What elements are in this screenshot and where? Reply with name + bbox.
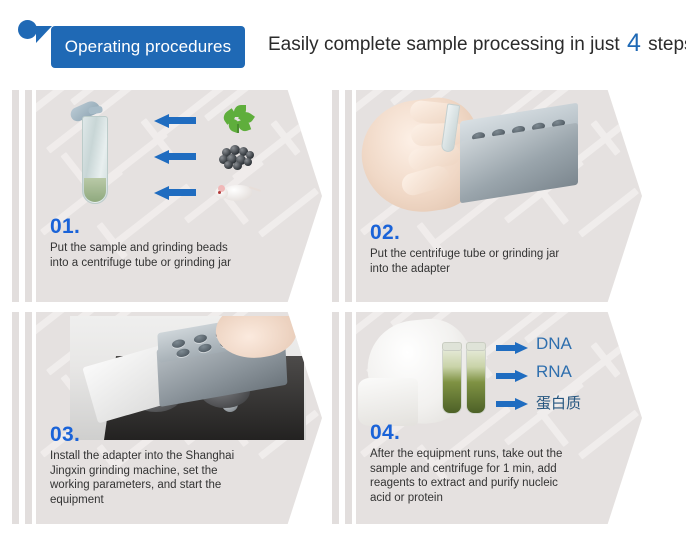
steps-grid: 01. Put the sample and grinding beads in…	[0, 86, 686, 538]
step-text: 02. Put the centrifuge tube or grinding …	[370, 222, 620, 276]
step-illustration-adapter-loading	[356, 90, 642, 218]
card-body: DNA RNA 蛋白质	[356, 312, 642, 524]
arrow-left-icon	[154, 186, 196, 198]
step-text: 01. Put the sample and grinding beads in…	[50, 216, 300, 270]
step-illustration-tube-and-samples	[36, 90, 322, 218]
card-accent-bar	[345, 90, 352, 302]
card-accent-bar	[345, 312, 352, 524]
card-accent-bar	[25, 312, 32, 524]
step-text: 03. Install the adapter into the Shangha…	[50, 424, 298, 507]
step-number: 02.	[370, 222, 620, 244]
tube-sample-fill	[84, 178, 106, 202]
card-accent-bar	[12, 90, 19, 302]
step-number: 04.	[370, 422, 618, 444]
operating-procedures-badge: Operating procedures	[18, 22, 258, 68]
sample-arrow-row-leaf	[154, 106, 306, 134]
step-card-04: DNA RNA 蛋白质	[330, 312, 650, 524]
output-label-rna: RNA	[536, 362, 572, 382]
page-title: Easily complete sample processing in jus…	[268, 30, 686, 58]
glove-cuff	[358, 378, 418, 426]
output-row-protein: 蛋白质	[496, 392, 642, 414]
step-description: Put the centrifuge tube or grinding jar …	[370, 247, 620, 276]
page-title-prefix: Easily complete sample processing in jus…	[268, 34, 620, 55]
arrow-right-icon	[496, 342, 528, 353]
step-card-03: 03. Install the adapter into the Shangha…	[10, 312, 330, 524]
operating-procedures-infographic: Operating procedures Easily complete sam…	[0, 0, 686, 538]
card-accent-bar	[25, 90, 32, 302]
step-text: 04. After the equipment runs, take out t…	[370, 422, 618, 505]
arrow-left-icon	[154, 150, 196, 162]
step-description: Put the sample and grinding beads into a…	[50, 241, 300, 270]
output-row-rna: RNA	[496, 364, 642, 386]
arrow-left-icon	[154, 114, 196, 126]
card-accent-bar	[332, 90, 339, 302]
page-title-step-count: 4	[625, 29, 643, 57]
step-description: After the equipment runs, take out the s…	[370, 447, 618, 505]
tube-cap-icon	[466, 342, 486, 351]
grinding-machine-icon	[70, 316, 306, 440]
badge-tail-icon	[36, 26, 52, 43]
step-card-02: 02. Put the centrifuge tube or grinding …	[330, 90, 650, 302]
sample-tube-icon	[466, 348, 486, 414]
arrow-right-icon	[496, 398, 528, 409]
arrow-right-icon	[496, 370, 528, 381]
tube-body-icon	[82, 116, 108, 204]
leaf-icon	[216, 106, 262, 134]
mouse-icon	[216, 178, 262, 206]
sample-tube-icon	[442, 348, 462, 414]
card-body: 01. Put the sample and grinding beads in…	[36, 90, 322, 302]
card-accent-bar	[332, 312, 339, 524]
step-description: Install the adapter into the Shanghai Ji…	[50, 449, 298, 507]
centrifuge-tube-icon	[82, 112, 108, 204]
tube-cap-icon	[442, 342, 462, 351]
output-row-dna: DNA	[496, 336, 642, 358]
page-header: Operating procedures Easily complete sam…	[0, 0, 686, 86]
card-body: 03. Install the adapter into the Shangha…	[36, 312, 322, 524]
output-label-dna: DNA	[536, 334, 572, 354]
step-number: 01.	[50, 216, 300, 238]
grinding-beads-icon	[216, 142, 262, 170]
badge-body: Operating procedures	[51, 26, 245, 68]
step-number: 03.	[50, 424, 298, 446]
card-accent-bar	[12, 312, 19, 524]
sample-arrow-row-beads	[154, 142, 306, 170]
step-card-01: 01. Put the sample and grinding beads in…	[10, 90, 330, 302]
badge-label: Operating procedures	[65, 37, 231, 57]
card-body: 02. Put the centrifuge tube or grinding …	[356, 90, 642, 302]
step-illustration-grinding-machine	[36, 312, 322, 440]
badge-dot-icon	[18, 20, 37, 39]
sample-arrow-row-mouse	[154, 178, 306, 206]
output-label-protein: 蛋白质	[536, 392, 581, 413]
page-title-suffix: steps:	[648, 34, 686, 55]
